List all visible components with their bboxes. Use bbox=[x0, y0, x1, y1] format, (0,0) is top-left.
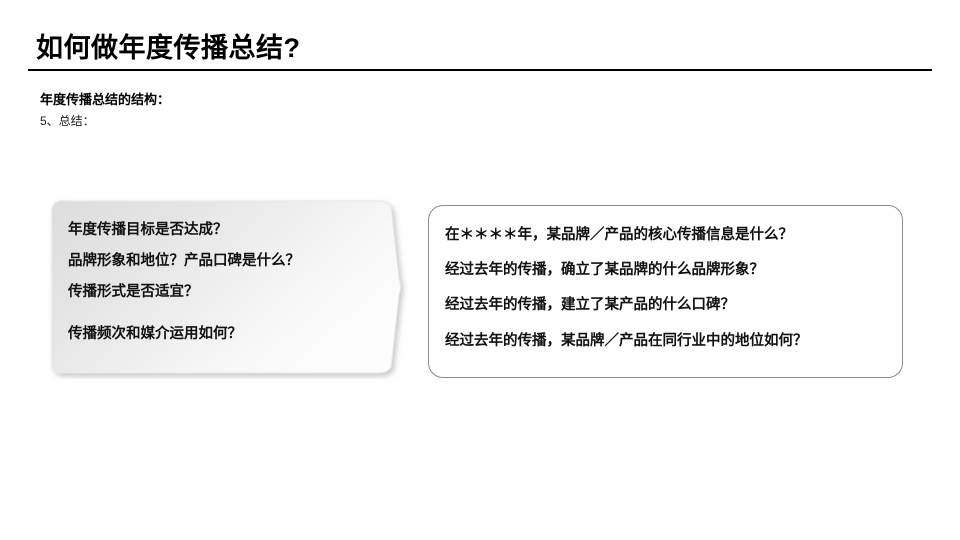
answers-text-group: 在＊＊＊＊年，某品牌／产品的核心传播信息是什么？ 经过去年的传播，确立了某品牌的… bbox=[445, 228, 890, 348]
structure-heading: 年度传播总结的结构： bbox=[40, 89, 170, 108]
title-divider bbox=[28, 69, 932, 71]
answer-line-3: 经过去年的传播，建立了某产品的什么口碑？ bbox=[445, 298, 890, 313]
section-label: 5、总结： bbox=[40, 112, 95, 129]
arrow-line-4: 传播频次和媒介运用如何？ bbox=[68, 327, 368, 342]
arrow-line-1: 年度传播目标是否达成？ bbox=[68, 223, 368, 238]
answer-line-4: 经过去年的传播，某品牌／产品在同行业中的地位如何？ bbox=[445, 334, 890, 349]
answers-box: 在＊＊＊＊年，某品牌／产品的核心传播信息是什么？ 经过去年的传播，确立了某品牌的… bbox=[428, 205, 903, 378]
arrow-text-group: 年度传播目标是否达成？ 品牌形象和地位？产品口碑是什么？ 传播形式是否适宜？ 传… bbox=[68, 223, 368, 341]
arrow-line-2: 品牌形象和地位？产品口碑是什么？ bbox=[68, 254, 368, 269]
answer-line-1: 在＊＊＊＊年，某品牌／产品的核心传播信息是什么？ bbox=[445, 228, 890, 243]
answer-line-2: 经过去年的传播，确立了某品牌的什么品牌形象？ bbox=[445, 263, 890, 278]
arrow-line-3: 传播形式是否适宜？ bbox=[68, 285, 368, 300]
questions-arrow-shape: 年度传播目标是否达成？ 品牌形象和地位？产品口碑是什么？ 传播形式是否适宜？ 传… bbox=[52, 201, 400, 369]
page-title: 如何做年度传播总结? bbox=[36, 26, 301, 65]
